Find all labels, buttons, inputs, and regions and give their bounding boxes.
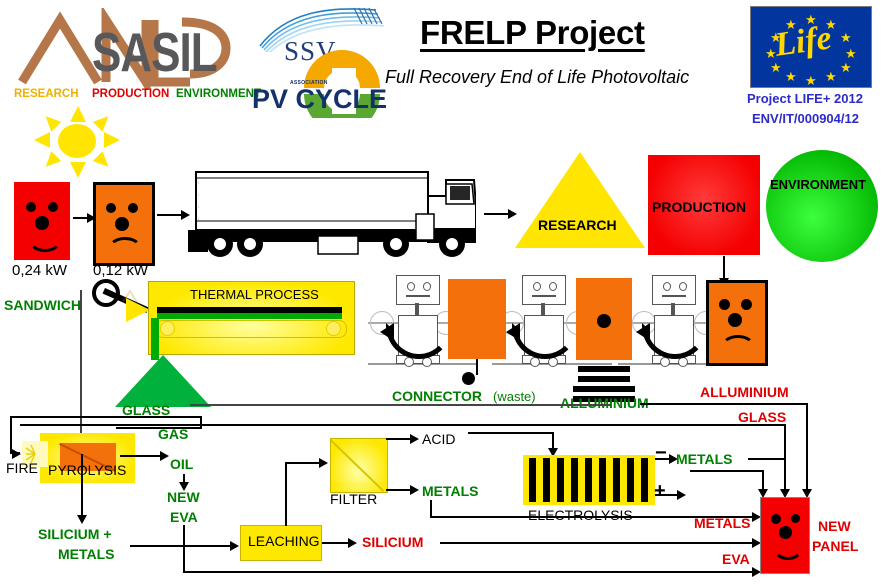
sun-core <box>58 124 96 158</box>
life-wordmark: Life <box>773 19 834 65</box>
eva-input-label: EVA <box>722 552 750 566</box>
thermal-process-label: THERMAL PROCESS <box>190 288 319 301</box>
alluminium-output-label: ALLUMINIUM <box>700 385 789 399</box>
sun-icon <box>34 106 120 178</box>
eu-life-logo: ★ ★ ★ ★ ★ ★ ★ ★ ★ ★ ★ ★ Life <box>750 6 872 88</box>
leaching-label: LEACHING <box>248 534 320 548</box>
tag-environment: ENVIRONMENT <box>176 88 261 100</box>
roller-left <box>160 321 175 336</box>
new-panel-label-line1: NEW <box>818 519 851 533</box>
sasil-logo: SASIL <box>14 8 254 88</box>
new-eva-label-line2: EVA <box>170 510 198 524</box>
glass-output-label: GLASS <box>738 410 786 424</box>
metals-from-electrolysis-label: METALS <box>676 452 733 466</box>
new-panel-label-line2: PANEL <box>812 539 858 553</box>
panel-happy-red <box>14 182 70 260</box>
research-triangle <box>515 152 645 248</box>
tag-production: PRODUCTION <box>92 88 169 100</box>
silicium-metals-line1: SILICIUM + <box>38 527 112 541</box>
frelp-infographic: SASIL RESEARCH PRODUCTION ENVIRONMENT SS… <box>0 0 885 588</box>
pvcycle-logo: ASSOCIATION PV CYCLE <box>250 52 390 120</box>
panel-sad-endoflife <box>706 280 768 366</box>
metals-from-filter-label: METALS <box>422 484 479 498</box>
sandwich-label: SANDWICH <box>4 298 81 312</box>
electrolysis-label: ELECTROLYSIS <box>528 508 633 522</box>
connector-waste-dot <box>462 372 475 385</box>
environment-circle <box>766 150 878 262</box>
production-label: PRODUCTION <box>652 200 746 214</box>
environment-label: ENVIRONMENT <box>770 178 866 191</box>
new-eva-label-line1: NEW <box>167 490 200 504</box>
gas-label: GAS <box>158 427 188 441</box>
panel-power-012: 0,12 kW <box>93 262 148 279</box>
electrode-negative: − <box>655 443 667 463</box>
glass-label: GLASS <box>122 403 170 417</box>
research-label: RESEARCH <box>538 218 617 232</box>
glass-strip <box>151 318 159 360</box>
connector-block <box>448 279 506 359</box>
svg-text::: : <box>198 216 199 221</box>
project-code-line1: Project LIFE+ 2012 <box>747 92 863 105</box>
connector-waste-label: (waste) <box>493 390 536 403</box>
sasil-wordmark: SASIL <box>92 22 217 85</box>
filter-label: FILTER <box>330 492 377 506</box>
svg-text::: : <box>198 204 199 209</box>
transport-truck-icon: :::: <box>188 166 476 266</box>
thermal-roller-tube <box>155 320 347 338</box>
up-arrow-marker <box>120 288 138 302</box>
pvcycle-wordmark: PV CYCLE <box>252 84 387 115</box>
oil-label: OIL <box>170 457 193 471</box>
page-subtitle: Full Recovery End of Life Photovoltaic <box>385 68 689 86</box>
silicium-metals-line2: METALS <box>58 547 115 561</box>
robot-arm-2 <box>516 275 570 367</box>
glass-triangle <box>115 355 211 407</box>
alluminium-block <box>576 278 632 360</box>
page-title: FRELP Project <box>420 16 645 49</box>
metals-input-label: METALS <box>694 516 751 530</box>
project-code-line2: ENV/IT/000904/12 <box>752 112 859 125</box>
silicium-label: SILICIUM <box>362 535 423 549</box>
thermal-green-bar <box>157 313 342 319</box>
panel-power-024: 0,24 kW <box>12 262 67 279</box>
robot-arm-1 <box>390 275 444 367</box>
connector-label: CONNECTOR <box>392 389 482 403</box>
alluminium-label: ALLUMINIUM <box>560 396 649 410</box>
tag-research: RESEARCH <box>14 88 79 100</box>
electrode-positive: + <box>654 481 666 501</box>
fire-label: FIRE <box>6 461 38 475</box>
robot-arm-3 <box>646 275 700 367</box>
panel-sad-orange <box>93 182 155 266</box>
pyrolysis-label: PYROLYSIS <box>48 463 126 477</box>
roller-right <box>326 321 341 336</box>
new-panel-output <box>760 497 810 574</box>
svg-text::: : <box>198 192 199 197</box>
acid-label: ACID <box>422 432 455 446</box>
svg-text::: : <box>198 180 199 185</box>
